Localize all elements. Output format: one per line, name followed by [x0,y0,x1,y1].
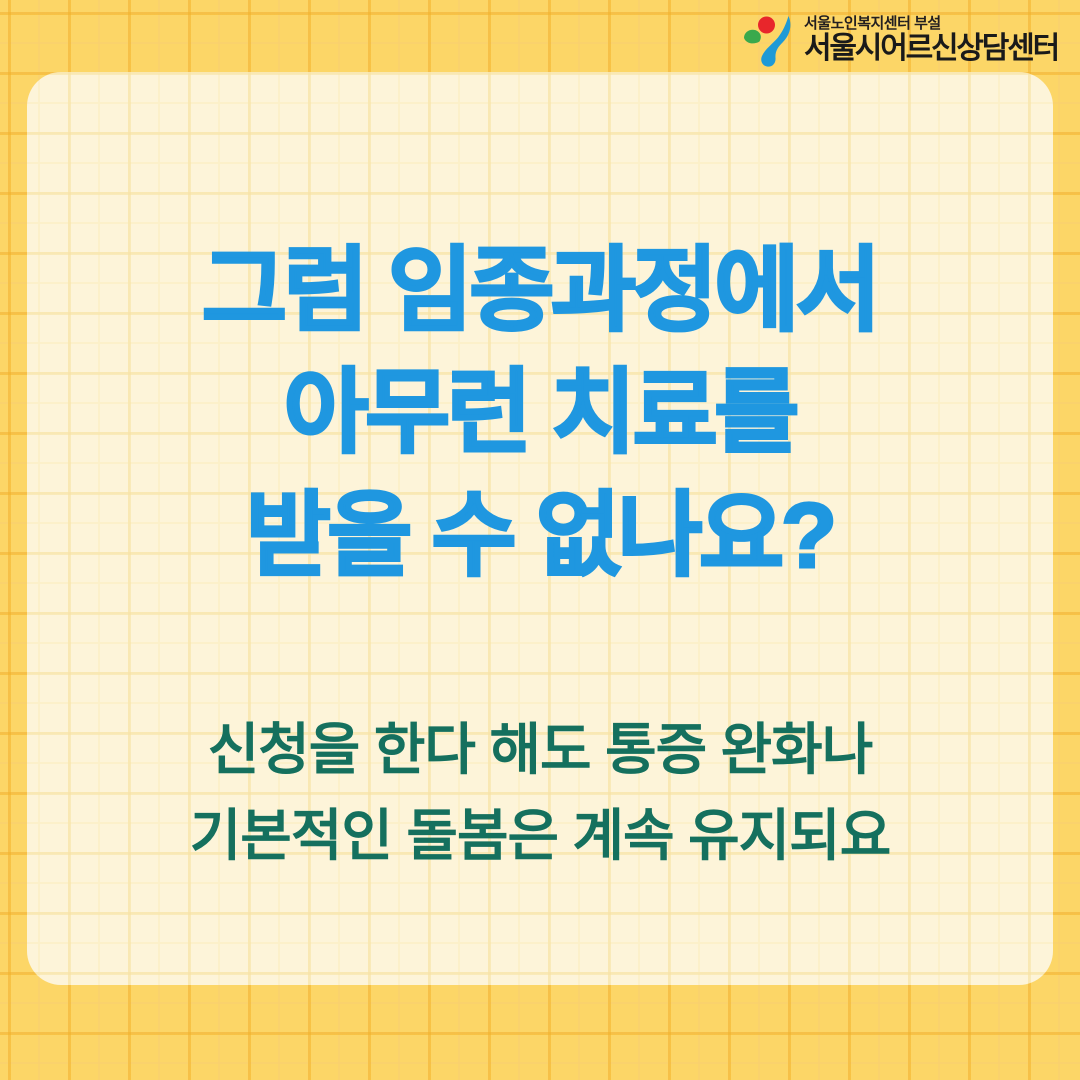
headline-line-1: 그럼 임종과정에서 [27,230,1053,352]
headline: 그럼 임종과정에서 아무런 치료를 받을 수 없나요? [27,230,1053,597]
poster-canvas: 서울노인복지센터 부설 서울시어르신상담센터 그럼 임종과정에서 아무런 치료를… [0,0,1080,1080]
headline-line-3: 받을 수 없나요? [27,475,1053,597]
center-logo-icon [742,12,794,68]
content-card: 그럼 임종과정에서 아무런 치료를 받을 수 없나요? 신청을 한다 해도 통증… [27,72,1053,985]
organization-logo: 서울노인복지센터 부설 서울시어르신상담센터 [742,12,1058,68]
body-copy: 신청을 한다 해도 통증 완화나 기본적인 돌봄은 계속 유지되요 [27,707,1053,878]
headline-line-2: 아무런 치료를 [27,352,1053,474]
body-line-1: 신청을 한다 해도 통증 완화나 [27,707,1053,793]
body-line-2: 기본적인 돌봄은 계속 유지되요 [27,793,1053,879]
logo-subtitle: 서울노인복지센터 부설 [804,16,941,31]
logo-title: 서울시어르신상담센터 [804,34,1058,64]
logo-text-block: 서울노인복지센터 부설 서울시어르신상담센터 [804,16,1058,64]
